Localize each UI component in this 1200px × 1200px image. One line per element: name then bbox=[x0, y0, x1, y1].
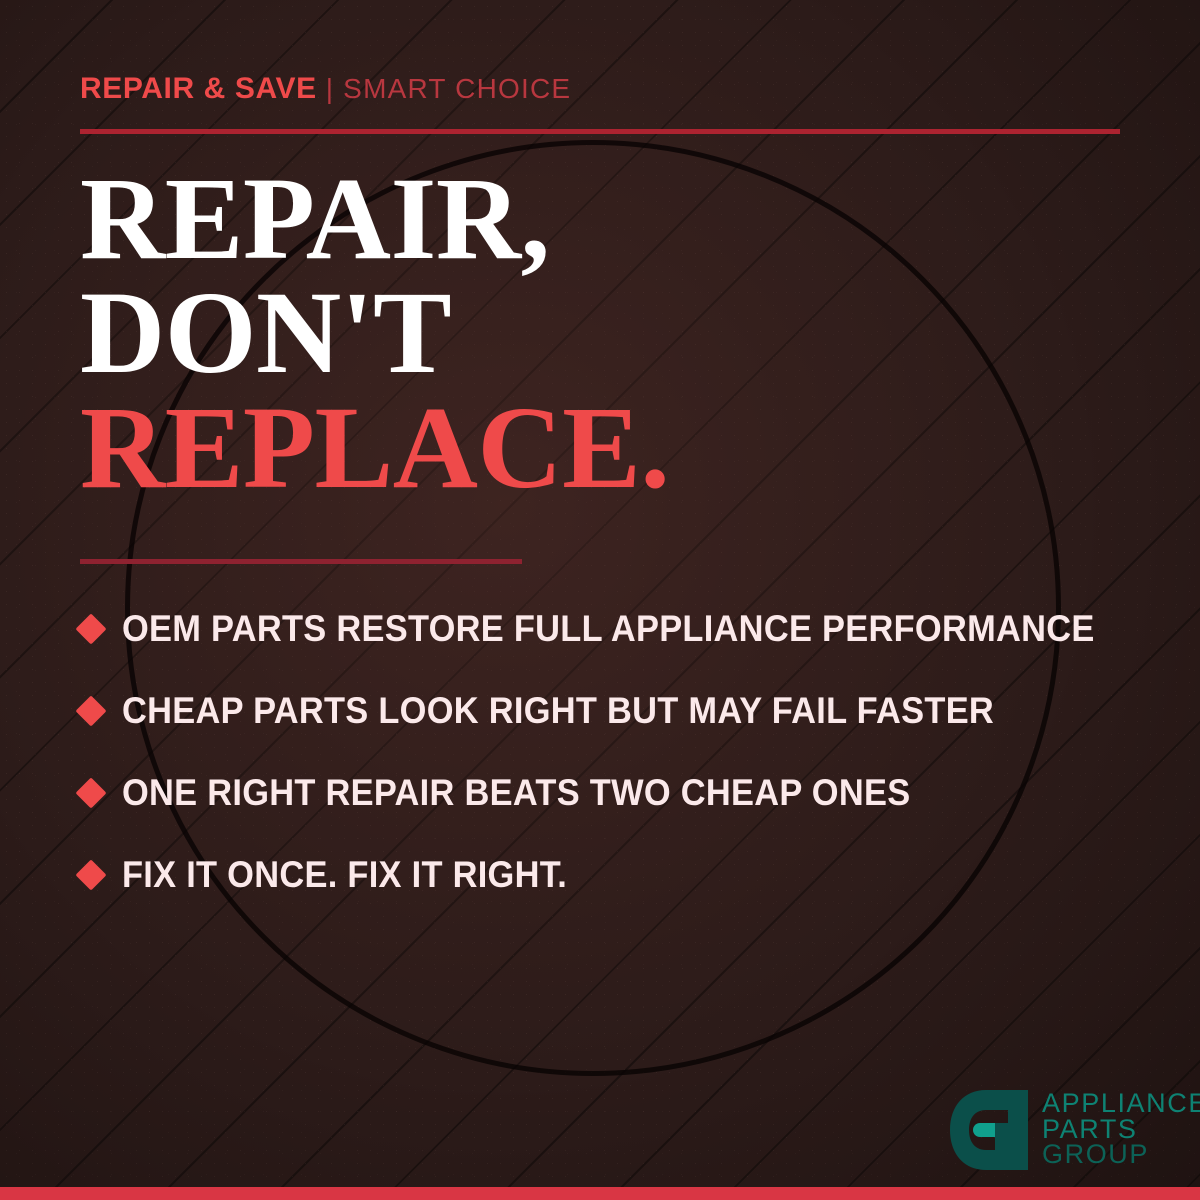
list-item: ONE RIGHT REPAIR BEATS TWO CHEAP ONES bbox=[80, 752, 1150, 834]
list-item-label: ONE RIGHT REPAIR BEATS TWO CHEAP ONES bbox=[122, 772, 910, 814]
diamond-bullet-icon bbox=[75, 695, 106, 726]
list-item-label: CHEAP PARTS LOOK RIGHT BUT MAY FAIL FAST… bbox=[122, 690, 994, 732]
poster-content: REPAIR & SAVE| SMART CHOICE REPAIR, DON'… bbox=[0, 0, 1200, 1200]
promo-poster: REPAIR & SAVE| SMART CHOICE REPAIR, DON'… bbox=[0, 0, 1200, 1200]
brand-logo: APPLIANCE PARTS GROUP bbox=[950, 1090, 1200, 1170]
list-item: CHEAP PARTS LOOK RIGHT BUT MAY FAIL FAST… bbox=[80, 670, 1150, 752]
headline-line-3: REPLACE. bbox=[80, 391, 1130, 505]
brand-word-appliance: APPLIANCE bbox=[1042, 1091, 1200, 1117]
benefits-list: OEM PARTS RESTORE FULL APPLIANCE PERFORM… bbox=[80, 588, 1150, 916]
list-item-label: FIX IT ONCE. FIX IT RIGHT. bbox=[122, 854, 567, 896]
brand-logo-wordmark: APPLIANCE PARTS GROUP bbox=[1042, 1091, 1200, 1168]
page-title: REPAIR, DON'T REPLACE. bbox=[80, 162, 1130, 505]
g-monogram-icon bbox=[950, 1090, 1028, 1170]
headline-line-1: REPAIR, bbox=[80, 162, 1130, 276]
headline-line-2: DON'T bbox=[80, 276, 1130, 390]
list-item-label: OEM PARTS RESTORE FULL APPLIANCE PERFORM… bbox=[122, 608, 1095, 650]
diamond-bullet-icon bbox=[75, 613, 106, 644]
list-item: OEM PARTS RESTORE FULL APPLIANCE PERFORM… bbox=[80, 588, 1150, 670]
brand-word-group: GROUP bbox=[1042, 1142, 1200, 1168]
diamond-bullet-icon bbox=[75, 859, 106, 890]
header-divider-rule bbox=[80, 129, 1120, 134]
kicker-light-text: | SMART CHOICE bbox=[326, 73, 572, 104]
diamond-bullet-icon bbox=[75, 777, 106, 808]
footer-accent-bar bbox=[0, 1187, 1200, 1200]
kicker-eyebrow: REPAIR & SAVE| SMART CHOICE bbox=[80, 74, 571, 104]
kicker-strong-text: REPAIR & SAVE bbox=[80, 72, 317, 105]
list-item: FIX IT ONCE. FIX IT RIGHT. bbox=[80, 834, 1150, 916]
headline-divider-rule bbox=[80, 559, 522, 564]
